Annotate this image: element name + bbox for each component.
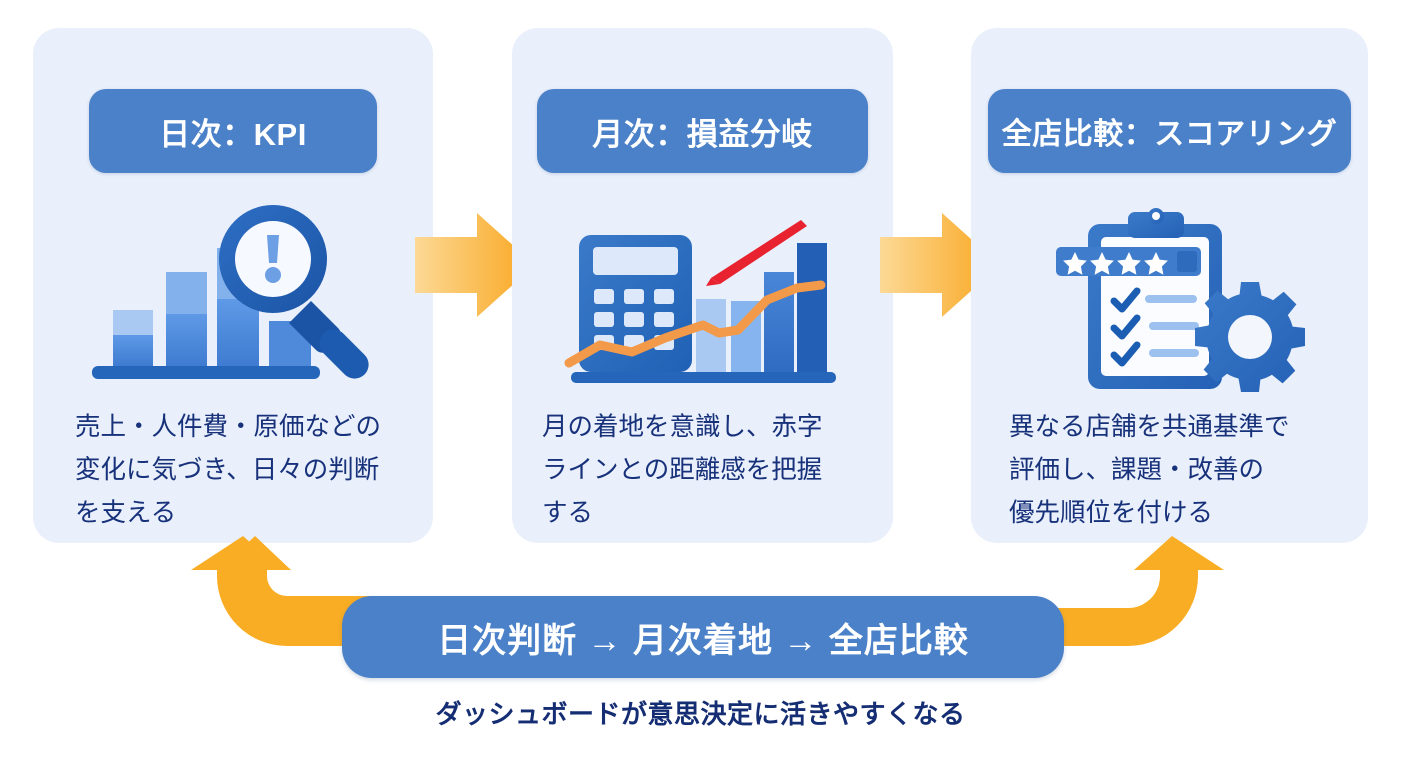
card-header-title: 日次：KPI bbox=[159, 109, 307, 154]
card-body-line: する bbox=[542, 492, 869, 535]
diagram-canvas: 日次：KPI bbox=[0, 0, 1401, 769]
card-body-line: ラインとの距離感を把握 bbox=[542, 449, 869, 492]
summary-banner: 日次判断 → 月次着地 → 全店比較 bbox=[342, 596, 1064, 678]
card-daily-kpi: 日次：KPI bbox=[33, 28, 433, 543]
card-header-title: 全店比較：スコアリング bbox=[1002, 109, 1338, 153]
card-body-line: 異なる店舗を共通基準で bbox=[1009, 406, 1344, 449]
calculator-trend-chart-icon bbox=[512, 200, 893, 395]
card-header-store-comparison-scoring: 全店比較：スコアリング bbox=[988, 89, 1351, 173]
card-body-line: 評価し、課題・改善の bbox=[1009, 449, 1344, 492]
card-body-daily-kpi: 売上・人件費・原価などの 変化に気づき、日々の判断 を支える bbox=[75, 406, 403, 534]
card-header-title: 月次：損益分岐 bbox=[592, 109, 813, 154]
card-header-daily-kpi: 日次：KPI bbox=[89, 89, 377, 173]
card-body-line: 売上・人件費・原価などの bbox=[75, 406, 403, 449]
card-body-line: 変化に気づき、日々の判断 bbox=[75, 449, 403, 492]
card-body-store-comparison-scoring: 異なる店舗を共通基準で 評価し、課題・改善の 優先順位を付ける bbox=[1009, 406, 1344, 534]
card-body-line: 優先順位を付ける bbox=[1009, 492, 1344, 535]
card-header-monthly-breakeven: 月次：損益分岐 bbox=[537, 89, 868, 173]
card-body-monthly-breakeven: 月の着地を意識し、赤字 ラインとの距離感を把握 する bbox=[542, 406, 869, 534]
bar-chart-magnifier-alert-icon bbox=[33, 200, 433, 395]
card-body-line: 月の着地を意識し、赤字 bbox=[542, 406, 869, 449]
card-body-line: を支える bbox=[75, 492, 403, 535]
clipboard-rating-gear-icon bbox=[971, 200, 1368, 395]
summary-banner-text: 日次判断 → 月次着地 → 全店比較 bbox=[437, 613, 969, 662]
card-monthly-breakeven: 月次：損益分岐 bbox=[512, 28, 893, 543]
summary-caption: ダッシュボードが意思決定に活きやすくなる bbox=[0, 694, 1401, 731]
card-store-comparison-scoring: 全店比較：スコアリング bbox=[971, 28, 1368, 543]
